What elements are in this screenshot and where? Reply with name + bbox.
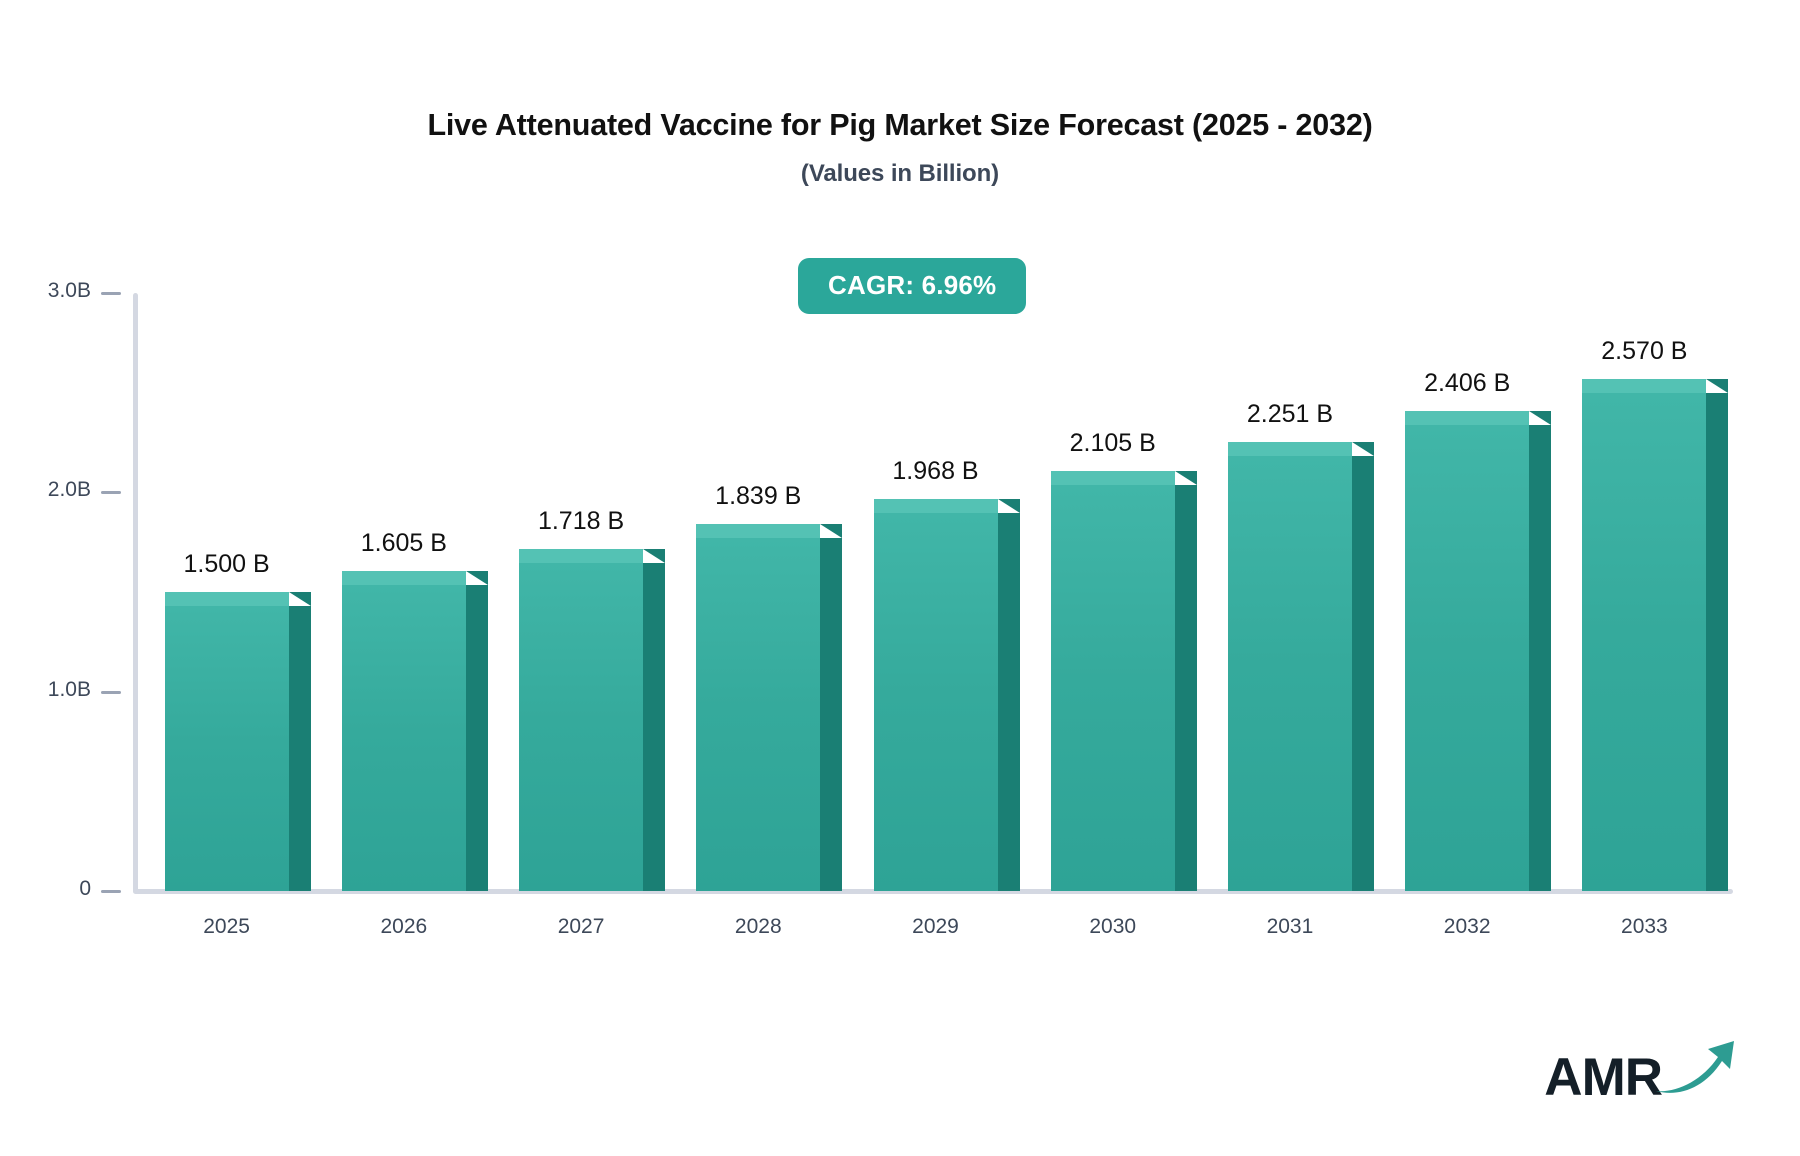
bar-top-face (342, 571, 466, 585)
y-axis-tick-label: 1.0B (48, 678, 91, 702)
bar-front-face (342, 585, 466, 891)
bar-top-bevel (1175, 471, 1197, 485)
y-axis-line (133, 293, 138, 893)
bar-top-bevel (1706, 379, 1728, 393)
bar-top-bevel (289, 592, 311, 606)
bar[interactable] (342, 571, 466, 891)
bar-side-face (1175, 485, 1197, 891)
amr-logo-text: AMR (1544, 1051, 1662, 1104)
bar-side-face (643, 563, 665, 891)
bar-side-face (1352, 456, 1374, 891)
bar-front-face (1582, 393, 1706, 891)
y-axis-tick-label: 3.0B (48, 279, 91, 303)
bar-value-label: 1.839 B (628, 482, 888, 511)
y-axis-tick-mark (101, 491, 121, 494)
bar-top-face (165, 592, 289, 606)
bar-top-face (1228, 442, 1352, 456)
bar-front-face (1051, 485, 1175, 891)
bar-front-face (519, 563, 643, 891)
bar-top-bevel (998, 499, 1020, 513)
y-axis-tick-label: 2.0B (48, 478, 91, 502)
bar[interactable] (696, 524, 820, 891)
x-axis-tick-label: 2033 (1514, 915, 1774, 939)
bar-value-label: 2.406 B (1337, 369, 1597, 398)
bar-top-face (519, 549, 643, 563)
plot-area: 3.0B2.0B1.0B0 1.500 B1.605 B1.718 B1.839… (0, 0, 1800, 1156)
bar-value-label: 2.251 B (1160, 400, 1420, 429)
bar-side-face (466, 585, 488, 891)
bar[interactable] (519, 549, 643, 891)
bar-value-label: 1.968 B (806, 457, 1066, 486)
bar[interactable] (1405, 411, 1529, 891)
bar-side-face (1706, 393, 1728, 891)
bar-top-face (1051, 471, 1175, 485)
bar-front-face (874, 513, 998, 891)
bar[interactable] (1582, 379, 1706, 891)
bar-front-face (1405, 425, 1529, 891)
bar-side-face (1529, 425, 1551, 891)
bar-top-bevel (1529, 411, 1551, 425)
bar-top-bevel (466, 571, 488, 585)
bar[interactable] (1051, 471, 1175, 891)
bar-top-bevel (1352, 442, 1374, 456)
bar-top-face (696, 524, 820, 538)
bar-value-label: 2.105 B (983, 429, 1243, 458)
bar-top-bevel (820, 524, 842, 538)
y-axis-tick-mark (101, 890, 121, 893)
bar-front-face (165, 606, 289, 891)
bar-top-face (874, 499, 998, 513)
bar[interactable] (1228, 442, 1352, 891)
y-axis-tick-mark (101, 691, 121, 694)
y-axis-tick-label: 0 (79, 877, 91, 901)
bar-front-face (696, 538, 820, 891)
bar-top-face (1582, 379, 1706, 393)
y-axis-tick-mark (101, 292, 121, 295)
bar[interactable] (165, 592, 289, 891)
bar[interactable] (874, 499, 998, 891)
bar-top-bevel (643, 549, 665, 563)
chart-page: Live Attenuated Vaccine for Pig Market S… (0, 0, 1800, 1156)
trending-up-arrow-icon (1652, 1035, 1738, 1102)
bar-front-face (1228, 456, 1352, 891)
bar-side-face (289, 606, 311, 891)
bar-value-label: 2.570 B (1514, 337, 1774, 366)
bar-side-face (998, 513, 1020, 891)
amr-logo: AMR (1544, 1035, 1738, 1104)
bar-side-face (820, 538, 842, 891)
bar-top-face (1405, 411, 1529, 425)
